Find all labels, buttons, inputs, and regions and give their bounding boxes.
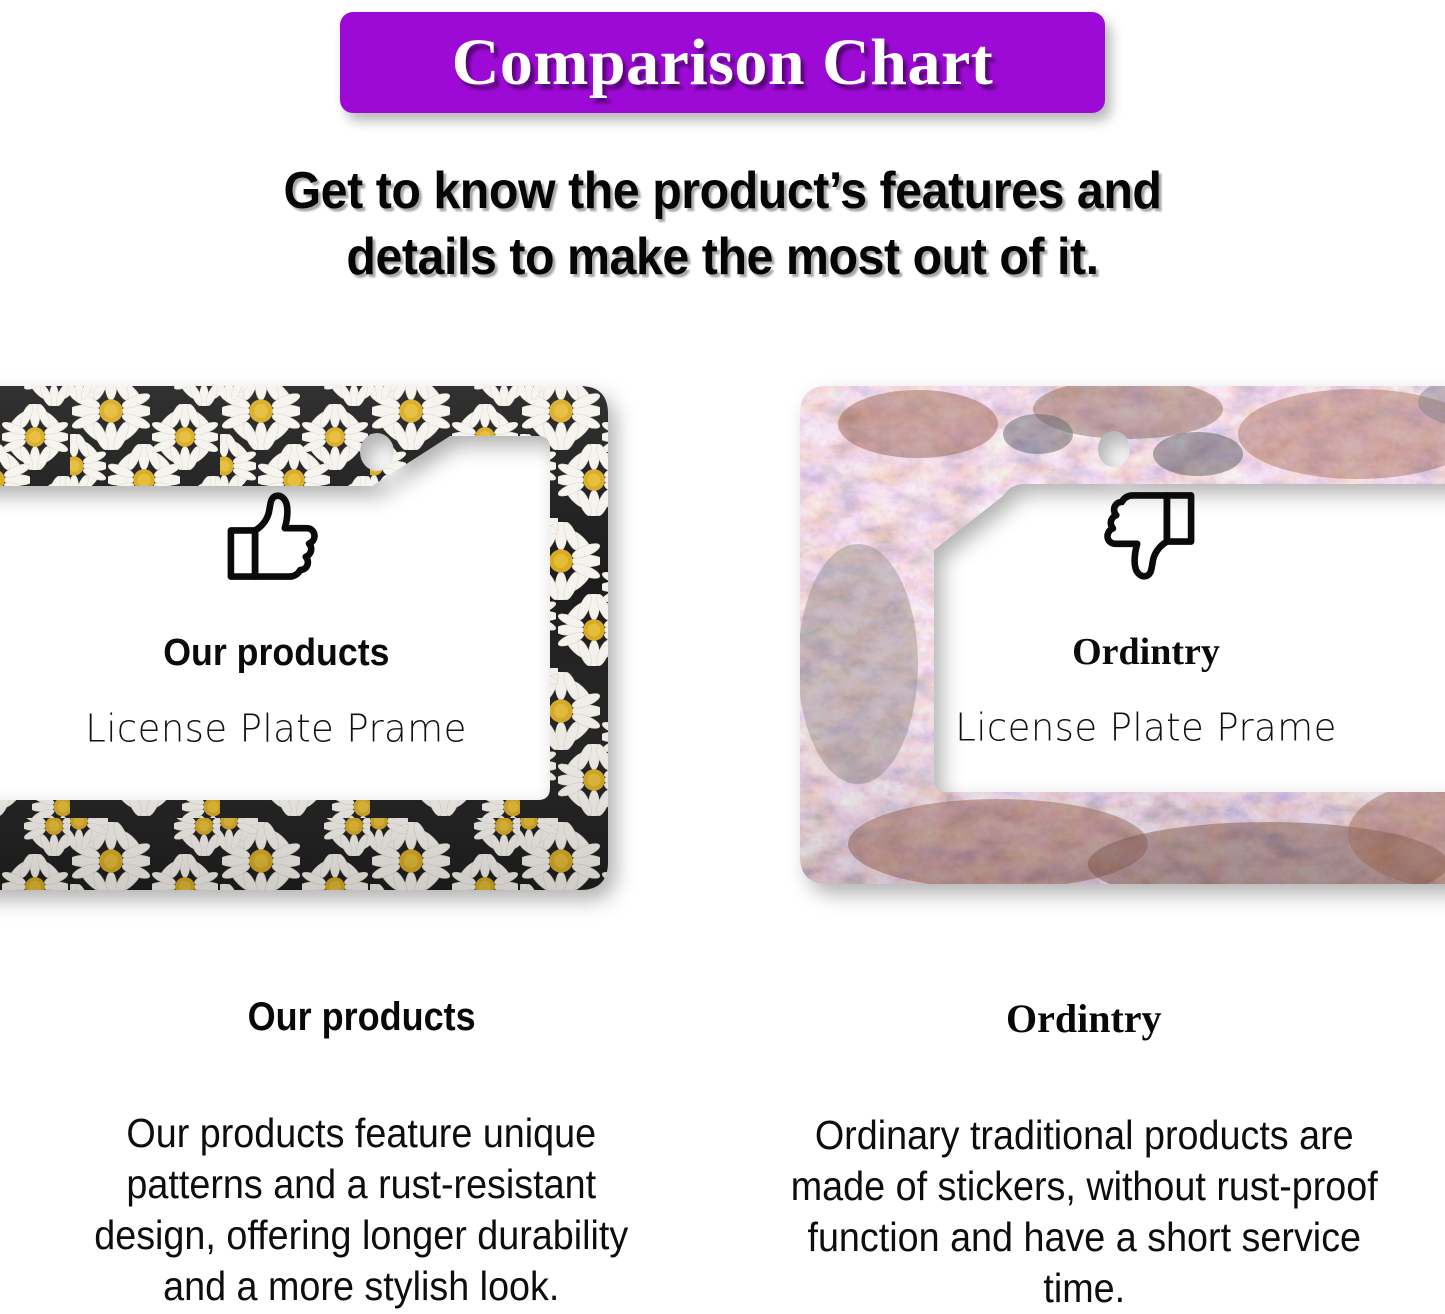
- ordinary-product-heading-text: Ordintry: [1006, 995, 1162, 1042]
- page-subtitle: Get to know the product’s features and d…: [51, 158, 1395, 290]
- our-product-column: Our products Our products feature unique…: [0, 995, 723, 1314]
- our-product-heading-text: Our products: [247, 995, 475, 1040]
- our-product-frame-image: [0, 368, 690, 908]
- comparison-description-row: Our products Our products feature unique…: [0, 995, 1445, 1314]
- subtitle-line-2: details to make the most out of it.: [51, 224, 1395, 290]
- subtitle-line-1: Get to know the product’s features and: [51, 158, 1395, 224]
- product-frames-row: Our products License Plate Prame Ordintr…: [0, 352, 1445, 922]
- ordinary-product-description: Ordinary traditional products are made o…: [788, 1110, 1379, 1314]
- ordinary-product-frame-image: [798, 364, 1445, 902]
- our-product-description: Our products feature unique patterns and…: [66, 1108, 657, 1312]
- title-banner-container: Comparison Chart: [0, 12, 1445, 113]
- page-title: Comparison Chart: [452, 25, 994, 101]
- ordinary-product-heading: Ordintry: [763, 995, 1406, 1042]
- ordinary-product-column: Ordintry Ordinary traditional products a…: [723, 995, 1445, 1314]
- our-product-heading: Our products: [40, 995, 683, 1040]
- title-banner: Comparison Chart: [340, 12, 1105, 113]
